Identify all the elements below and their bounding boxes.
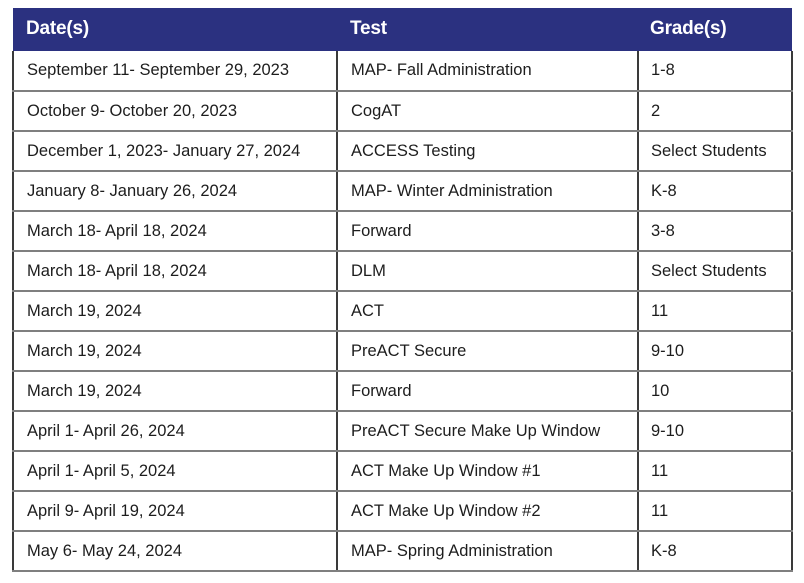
table-row: April 1- April 26, 2024PreACT Secure Mak… xyxy=(13,411,792,451)
cell-test: PreACT Secure xyxy=(337,331,638,371)
table-row: March 18- April 18, 2024Forward3-8 xyxy=(13,211,792,251)
cell-test: PreACT Secure Make Up Window xyxy=(337,411,638,451)
cell-test: CogAT xyxy=(337,91,638,131)
table-row: September 11- September 29, 2023MAP- Fal… xyxy=(13,51,792,91)
cell-date: May 6- May 24, 2024 xyxy=(13,531,337,571)
cell-grade: Select Students xyxy=(638,251,792,291)
cell-test: ACT Make Up Window #2 xyxy=(337,491,638,531)
cell-test: ACT xyxy=(337,291,638,331)
cell-grade: K-8 xyxy=(638,171,792,211)
table-row: March 19, 2024ACT11 xyxy=(13,291,792,331)
cell-date: September 11- September 29, 2023 xyxy=(13,51,337,91)
cell-test: MAP- Winter Administration xyxy=(337,171,638,211)
cell-grade: 10 xyxy=(638,371,792,411)
table-header: Date(s) Test Grade(s) xyxy=(13,8,792,51)
table-row: December 1, 2023- January 27, 2024ACCESS… xyxy=(13,131,792,171)
table-row: March 19, 2024PreACT Secure9-10 xyxy=(13,331,792,371)
cell-test: Forward xyxy=(337,371,638,411)
cell-grade: 9-10 xyxy=(638,411,792,451)
cell-grade: 2 xyxy=(638,91,792,131)
cell-grade: K-8 xyxy=(638,531,792,571)
table-row: March 19, 2024Forward10 xyxy=(13,371,792,411)
table-row: January 8- January 26, 2024MAP- Winter A… xyxy=(13,171,792,211)
cell-grade: 11 xyxy=(638,491,792,531)
cell-date: December 1, 2023- January 27, 2024 xyxy=(13,131,337,171)
column-header-date: Date(s) xyxy=(13,8,337,51)
column-header-grade: Grade(s) xyxy=(638,8,792,51)
cell-test: ACCESS Testing xyxy=(337,131,638,171)
cell-date: April 1- April 5, 2024 xyxy=(13,451,337,491)
cell-date: April 9- April 19, 2024 xyxy=(13,491,337,531)
cell-date: March 19, 2024 xyxy=(13,331,337,371)
table-row: March 18- April 18, 2024DLMSelect Studen… xyxy=(13,251,792,291)
cell-date: March 19, 2024 xyxy=(13,371,337,411)
cell-date: January 8- January 26, 2024 xyxy=(13,171,337,211)
table-body: September 11- September 29, 2023MAP- Fal… xyxy=(13,51,792,571)
cell-test: ACT Make Up Window #1 xyxy=(337,451,638,491)
cell-test: MAP- Fall Administration xyxy=(337,51,638,91)
cell-grade: 11 xyxy=(638,451,792,491)
cell-date: March 18- April 18, 2024 xyxy=(13,251,337,291)
table-row: April 9- April 19, 2024ACT Make Up Windo… xyxy=(13,491,792,531)
cell-test: Forward xyxy=(337,211,638,251)
cell-grade: Select Students xyxy=(638,131,792,171)
cell-date: March 18- April 18, 2024 xyxy=(13,211,337,251)
cell-grade: 1-8 xyxy=(638,51,792,91)
testing-schedule-table: Date(s) Test Grade(s) September 11- Sept… xyxy=(12,8,793,572)
cell-test: DLM xyxy=(337,251,638,291)
table-row: May 6- May 24, 2024MAP- Spring Administr… xyxy=(13,531,792,571)
cell-grade: 3-8 xyxy=(638,211,792,251)
cell-date: March 19, 2024 xyxy=(13,291,337,331)
cell-date: April 1- April 26, 2024 xyxy=(13,411,337,451)
header-row: Date(s) Test Grade(s) xyxy=(13,8,792,51)
table-row: October 9- October 20, 2023CogAT2 xyxy=(13,91,792,131)
cell-grade: 9-10 xyxy=(638,331,792,371)
document-sheet: Date(s) Test Grade(s) September 11- Sept… xyxy=(0,0,804,583)
table-row: April 1- April 5, 2024ACT Make Up Window… xyxy=(13,451,792,491)
cell-grade: 11 xyxy=(638,291,792,331)
column-header-test: Test xyxy=(337,8,638,51)
cell-test: MAP- Spring Administration xyxy=(337,531,638,571)
cell-date: October 9- October 20, 2023 xyxy=(13,91,337,131)
